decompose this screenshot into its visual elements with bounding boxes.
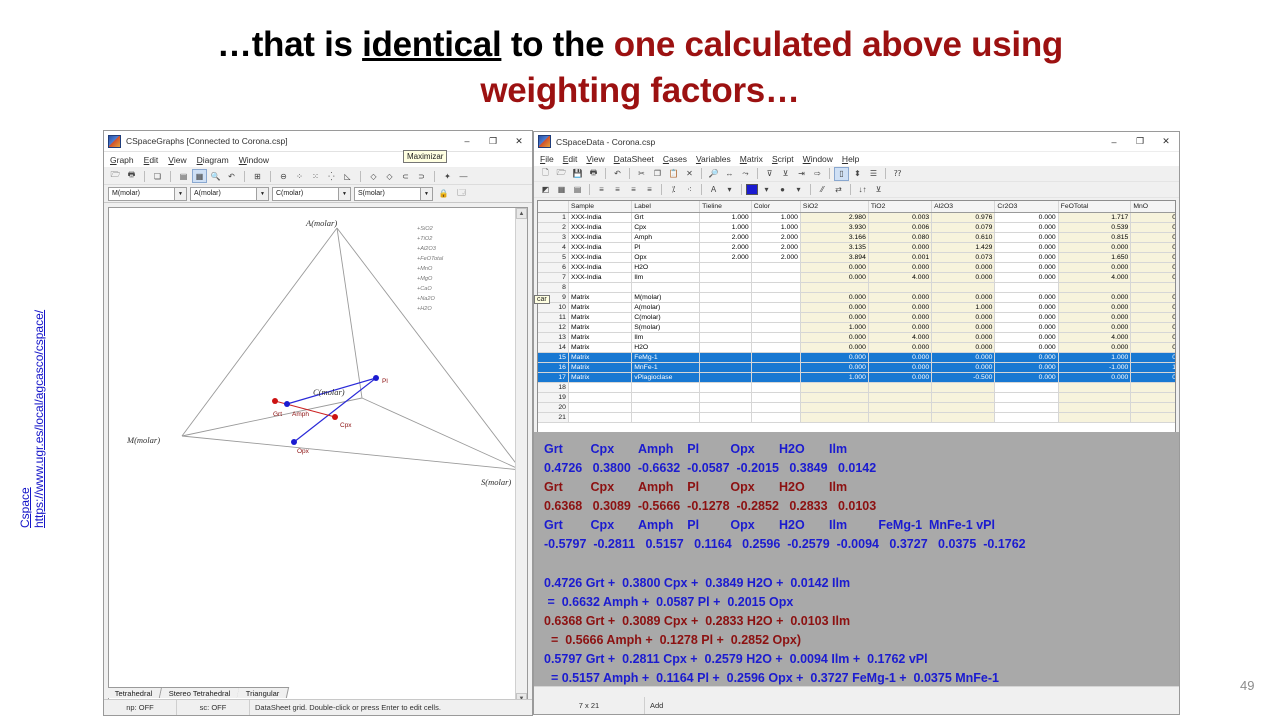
cell-tieline[interactable] <box>700 402 752 412</box>
cell-value[interactable]: 0.000 <box>1058 312 1131 322</box>
cell-value[interactable]: -1.000 <box>1058 362 1131 372</box>
chevron-down-icon[interactable]: ▾ <box>722 183 737 197</box>
cell-sample[interactable]: XXX-India <box>568 212 631 222</box>
filter-icon[interactable]: ⊽ <box>762 167 777 181</box>
cell-value[interactable]: 0.000 <box>932 272 995 282</box>
menu-matrix[interactable]: Matrix <box>740 154 763 164</box>
cell-value[interactable] <box>1131 412 1176 422</box>
cell-value[interactable] <box>800 382 868 392</box>
recalc-icon[interactable]: ⇄ <box>831 183 846 197</box>
cut-icon[interactable]: ✂ <box>634 167 649 181</box>
cell-value[interactable]: 0.000 <box>1131 242 1176 252</box>
col-sample[interactable]: Sample <box>568 201 631 212</box>
cell-value[interactable]: 0.000 <box>868 342 931 352</box>
cell-value[interactable] <box>932 402 995 412</box>
close-icon[interactable]: ✕ <box>506 132 532 151</box>
cell-value[interactable]: 0.000 <box>995 312 1058 322</box>
cell-tieline[interactable] <box>700 322 752 332</box>
cell-value[interactable]: 0.000 <box>1131 332 1176 342</box>
axis-combo-s[interactable]: S(molar) ▼ <box>354 187 433 201</box>
cell-value[interactable] <box>995 402 1058 412</box>
table-row[interactable]: 4XXX-IndiaPl2.0002.0003.1350.0001.4290.0… <box>538 242 1176 252</box>
cell-value[interactable]: 0.000 <box>995 292 1058 302</box>
row-header[interactable]: 6 <box>538 262 568 272</box>
cell-sample[interactable] <box>568 392 631 402</box>
cell-label[interactable]: vPlagioclase <box>632 372 700 382</box>
cell-tieline[interactable] <box>700 312 752 322</box>
menu-edit[interactable]: Edit <box>144 155 159 165</box>
cell-value[interactable]: 0.000 <box>868 322 931 332</box>
lock-icon[interactable]: 🔒 <box>436 187 451 201</box>
rotate-left-icon[interactable]: ◇ <box>366 169 381 183</box>
decimal-decrease-icon[interactable]: ⁖ <box>682 183 697 197</box>
cell-sample[interactable]: Matrix <box>568 342 631 352</box>
table-row[interactable]: 9MatrixM(molar)0.0000.0000.0000.0000.000… <box>538 292 1176 302</box>
row-header[interactable]: 12 <box>538 322 568 332</box>
menu-diagram[interactable]: Diagram <box>197 155 229 165</box>
cell-label[interactable]: Grt <box>632 212 700 222</box>
save-icon[interactable]: 💾 <box>570 167 585 181</box>
col-sio2[interactable]: SiO2 <box>800 201 868 212</box>
col-color[interactable]: Color <box>751 201 800 212</box>
cell-tieline[interactable] <box>700 292 752 302</box>
cell-value[interactable] <box>995 412 1058 422</box>
table-row[interactable]: 15MatrixFeMg-10.0000.0000.0000.0001.0000… <box>538 352 1176 362</box>
cell-value[interactable]: 0.000 <box>995 252 1058 262</box>
rotate-right-icon[interactable]: ◇ <box>382 169 397 183</box>
clear-format-icon[interactable]: ⁄⁄ <box>815 183 830 197</box>
minimize-icon[interactable]: – <box>454 132 480 151</box>
tilt-down-icon[interactable]: ⊃ <box>414 169 429 183</box>
menu-variables[interactable]: Variables <box>696 154 731 164</box>
zoom-out-icon[interactable]: — <box>456 169 471 183</box>
align-right-icon[interactable]: ≡ <box>626 183 641 197</box>
menu-file[interactable]: File <box>540 154 554 164</box>
cell-value[interactable]: 0.000 <box>1058 342 1131 352</box>
cell-value[interactable]: 0.000 <box>800 362 868 372</box>
cell-label[interactable]: MnFe-1 <box>632 362 700 372</box>
table-row[interactable]: 12MatrixS(molar)1.0000.0000.0000.0000.00… <box>538 322 1176 332</box>
cell-value[interactable]: 1.000 <box>1131 362 1176 372</box>
row-header[interactable]: 4 <box>538 242 568 252</box>
cell-tieline[interactable]: 2.000 <box>700 242 752 252</box>
cell-value[interactable] <box>800 282 868 292</box>
open-icon[interactable]: 🗁 <box>108 169 123 183</box>
align-justify-icon[interactable]: ≡ <box>642 183 657 197</box>
table-row[interactable]: 19 <box>538 392 1176 402</box>
delete-icon[interactable]: ✕ <box>682 167 697 181</box>
undo-icon[interactable]: ↶ <box>610 167 625 181</box>
col-tio2[interactable]: TiO2 <box>868 201 931 212</box>
cell-value[interactable]: 0.000 <box>868 312 931 322</box>
cell-label[interactable]: M(molar) <box>632 292 700 302</box>
cell-sample[interactable]: XXX-India <box>568 242 631 252</box>
cell-value[interactable]: 2.980 <box>800 212 868 222</box>
point-pl[interactable] <box>373 375 379 381</box>
cell-tieline[interactable] <box>700 352 752 362</box>
cell-color[interactable] <box>751 372 800 382</box>
cell-value[interactable] <box>1131 282 1176 292</box>
cell-sample[interactable] <box>568 412 631 422</box>
cell-sample[interactable]: XXX-India <box>568 232 631 242</box>
cell-value[interactable]: 0.000 <box>868 302 931 312</box>
cell-value[interactable] <box>995 392 1058 402</box>
cell-color[interactable] <box>751 292 800 302</box>
row-header[interactable]: 8 <box>538 282 568 292</box>
open-icon[interactable]: 🗁 <box>554 167 569 181</box>
cell-value[interactable]: 0.073 <box>932 252 995 262</box>
cell-tieline[interactable] <box>700 302 752 312</box>
cell-value[interactable]: 0.000 <box>1058 322 1131 332</box>
cell-value[interactable] <box>932 382 995 392</box>
cell-color[interactable]: 2.000 <box>751 232 800 242</box>
menu-edit[interactable]: Edit <box>563 154 578 164</box>
table-row[interactable]: 7XXX-IndiaIlm0.0004.0000.0000.0004.0000.… <box>538 272 1176 282</box>
cell-value[interactable]: 4.000 <box>1058 272 1131 282</box>
cell-value[interactable]: 4.000 <box>1058 332 1131 342</box>
cell-value[interactable]: 0.000 <box>800 342 868 352</box>
cspace-link-url[interactable]: https://www.ugr.es/local/agcasco/cspace/ <box>32 310 46 528</box>
cell-value[interactable]: 0.000 <box>800 272 868 282</box>
cell-color[interactable] <box>751 282 800 292</box>
copy-icon[interactable]: ❏ <box>150 169 165 183</box>
cell-label[interactable] <box>632 412 700 422</box>
table-row[interactable]: 13MatrixIlm0.0004.0000.0000.0004.0000.00… <box>538 332 1176 342</box>
paste-icon[interactable]: 📋 <box>666 167 681 181</box>
table-row[interactable]: 14MatrixH2O0.0000.0000.0000.0000.0000.00… <box>538 342 1176 352</box>
cell-value[interactable] <box>1058 402 1131 412</box>
cell-value[interactable]: 0.000 <box>868 242 931 252</box>
row-header[interactable]: 11 <box>538 312 568 322</box>
print-icon[interactable]: 🖶 <box>124 169 139 183</box>
cell-label[interactable]: Pl <box>632 242 700 252</box>
select-all-icon[interactable]: ◩ <box>538 183 553 197</box>
cell-value[interactable] <box>800 392 868 402</box>
cell-value[interactable] <box>932 412 995 422</box>
axis-combo-a[interactable]: A(molar) ▼ <box>190 187 269 201</box>
cell-color[interactable] <box>751 342 800 352</box>
cell-tieline[interactable] <box>700 412 752 422</box>
cell-value[interactable]: 0.000 <box>1131 262 1176 272</box>
cell-value[interactable]: 0.000 <box>932 352 995 362</box>
cell-value[interactable]: 0.000 <box>1058 372 1131 382</box>
cell-label[interactable] <box>632 392 700 402</box>
cell-value[interactable]: 0.000 <box>800 352 868 362</box>
triangle-icon[interactable]: ◺ <box>340 169 355 183</box>
maximize-icon[interactable]: ❐ <box>480 132 506 151</box>
cell-value[interactable]: 0.006 <box>868 222 931 232</box>
cell-value[interactable]: 0.079 <box>1131 212 1176 222</box>
menu-datasheet[interactable]: DataSheet <box>614 154 654 164</box>
cell-label[interactable]: FeMg-1 <box>632 352 700 362</box>
cell-sample[interactable]: XXX-India <box>568 222 631 232</box>
cell-value[interactable]: 0.000 <box>1058 262 1131 272</box>
cell-value[interactable]: 0.007 <box>1131 232 1176 242</box>
row-header[interactable]: 7 <box>538 272 568 282</box>
cell-label[interactable]: Ilm <box>632 272 700 282</box>
cell-value[interactable]: 0.000 <box>932 362 995 372</box>
col-mno[interactable]: MnO <box>1131 201 1176 212</box>
col-feototal[interactable]: FeOTotal <box>1058 201 1131 212</box>
cell-label[interactable]: H2O <box>632 262 700 272</box>
cell-value[interactable]: 0.000 <box>800 312 868 322</box>
cell-sample[interactable]: Matrix <box>568 302 631 312</box>
cell-value[interactable] <box>1131 402 1176 412</box>
points-multi-icon[interactable]: ⁛ <box>324 169 339 183</box>
tab-stereo-tetrahedral[interactable]: Stereo Tetrahedral <box>159 687 239 698</box>
cell-value[interactable] <box>1131 382 1176 392</box>
cell-value[interactable]: 0.000 <box>932 322 995 332</box>
row-header[interactable]: 1 <box>538 212 568 222</box>
menu-view[interactable]: View <box>586 154 604 164</box>
row-header[interactable]: 15 <box>538 352 568 362</box>
row-header[interactable]: 20 <box>538 402 568 412</box>
properties-icon[interactable]: 🗔 <box>454 187 469 201</box>
cell-value[interactable]: 0.000 <box>995 352 1058 362</box>
row-header[interactable]: 19 <box>538 392 568 402</box>
align-left-icon[interactable]: ≡ <box>594 183 609 197</box>
append-row-icon[interactable]: ⇨ <box>810 167 825 181</box>
cell-value[interactable]: 1.000 <box>1058 352 1131 362</box>
chevron-down-icon[interactable]: ▼ <box>338 188 350 200</box>
cell-value[interactable]: 0.000 <box>995 262 1058 272</box>
cell-label[interactable]: Opx <box>632 252 700 262</box>
table-row[interactable]: 3XXX-IndiaAmph2.0002.0003.1660.0800.6100… <box>538 232 1176 242</box>
table-row[interactable]: 8 <box>538 282 1176 292</box>
table-row[interactable]: 16MatrixMnFe-10.0000.0000.0000.000-1.000… <box>538 362 1176 372</box>
menu-help[interactable]: Help <box>842 154 859 164</box>
tab-tetrahedral[interactable]: Tetrahedral <box>106 687 162 698</box>
cell-label[interactable] <box>632 282 700 292</box>
menu-window[interactable]: Window <box>803 154 833 164</box>
cell-value[interactable]: 1.000 <box>800 372 868 382</box>
point-amph[interactable] <box>284 401 290 407</box>
cell-color[interactable] <box>751 382 800 392</box>
menu-script[interactable]: Script <box>772 154 794 164</box>
replace-icon[interactable]: ↔ <box>722 167 737 181</box>
filter-apply-icon[interactable]: ⊻ <box>778 167 793 181</box>
cell-value[interactable] <box>1058 392 1131 402</box>
row-header[interactable]: 18 <box>538 382 568 392</box>
cell-value[interactable]: 0.000 <box>995 242 1058 252</box>
table-row[interactable]: 10MatrixA(molar)0.0000.0001.0000.0000.00… <box>538 302 1176 312</box>
align-center-icon[interactable]: ≡ <box>610 183 625 197</box>
cell-value[interactable] <box>932 392 995 402</box>
cell-color[interactable] <box>751 262 800 272</box>
list-icon[interactable]: ☰ <box>866 167 881 181</box>
cell-sample[interactable]: Matrix <box>568 352 631 362</box>
cell-label[interactable]: Cpx <box>632 222 700 232</box>
cell-value[interactable]: 0.000 <box>995 362 1058 372</box>
cell-sample[interactable]: Matrix <box>568 362 631 372</box>
insert-row-icon[interactable]: ⇥ <box>794 167 809 181</box>
cell-tieline[interactable] <box>700 362 752 372</box>
cell-value[interactable]: 3.894 <box>800 252 868 262</box>
cell-tieline[interactable]: 2.000 <box>700 232 752 242</box>
chevron-down-icon[interactable]: ▾ <box>759 183 774 197</box>
cell-value[interactable]: 4.000 <box>868 332 931 342</box>
projection-icon[interactable]: ⊖ <box>276 169 291 183</box>
cell-value[interactable]: 0.000 <box>1131 372 1176 382</box>
cell-color[interactable]: 1.000 <box>751 212 800 222</box>
cell-tieline[interactable] <box>700 262 752 272</box>
cell-value[interactable] <box>868 392 931 402</box>
undo-icon[interactable]: ↶ <box>224 169 239 183</box>
cell-value[interactable] <box>1058 282 1131 292</box>
cell-sample[interactable] <box>568 282 631 292</box>
cell-value[interactable]: 0.000 <box>800 332 868 342</box>
cell-tieline[interactable] <box>700 332 752 342</box>
cell-value[interactable]: 4.000 <box>868 272 931 282</box>
cell-value[interactable] <box>868 402 931 412</box>
axis-combo-m[interactable]: M(molar) ▼ <box>108 187 187 201</box>
table-row[interactable]: 20 <box>538 402 1176 412</box>
row-header[interactable]: 5 <box>538 252 568 262</box>
autofilter-icon[interactable]: ⊻ <box>871 183 886 197</box>
cell-value[interactable] <box>868 412 931 422</box>
cell-value[interactable]: 1.650 <box>1058 252 1131 262</box>
cell-value[interactable]: 0.539 <box>1058 222 1131 232</box>
cell-value[interactable]: 0.079 <box>932 222 995 232</box>
cell-value[interactable]: 0.000 <box>995 222 1058 232</box>
cell-color[interactable]: 1.000 <box>751 222 800 232</box>
cell-value[interactable]: -0.500 <box>932 372 995 382</box>
tilt-up-icon[interactable]: ⊂ <box>398 169 413 183</box>
cell-sample[interactable] <box>568 402 631 412</box>
table-row[interactable]: 5XXX-IndiaOpx2.0002.0003.8940.0010.0730.… <box>538 252 1176 262</box>
cell-value[interactable]: 1.000 <box>932 302 995 312</box>
cell-label[interactable]: Ilm <box>632 332 700 342</box>
page-icon[interactable]: ▤ <box>176 169 191 183</box>
marker-icon[interactable]: ● <box>775 183 790 197</box>
menu-window[interactable]: Window <box>239 155 269 165</box>
table-row[interactable]: 11MatrixC(molar)0.0000.0000.0000.0000.00… <box>538 312 1176 322</box>
cell-value[interactable]: 0.001 <box>868 252 931 262</box>
scroll-up-icon[interactable]: ▲ <box>516 208 527 219</box>
col-al2o3[interactable]: Al2O3 <box>932 201 995 212</box>
cell-color[interactable]: 2.000 <box>751 242 800 252</box>
row-header[interactable]: 16 <box>538 362 568 372</box>
cell-sample[interactable]: XXX-India <box>568 272 631 282</box>
cell-color[interactable] <box>751 352 800 362</box>
cell-tieline[interactable]: 1.000 <box>700 212 752 222</box>
cell-value[interactable]: 3.166 <box>800 232 868 242</box>
script-icon[interactable]: ⁇ <box>890 167 905 181</box>
cell-value[interactable]: 0.000 <box>800 302 868 312</box>
cell-value[interactable]: 0.000 <box>1131 322 1176 332</box>
cell-value[interactable]: 0.000 <box>1058 302 1131 312</box>
cell-tieline[interactable]: 2.000 <box>700 252 752 262</box>
menu-graph[interactable]: Graph <box>110 155 134 165</box>
cell-label[interactable] <box>632 382 700 392</box>
cell-value[interactable]: 0.000 <box>800 292 868 302</box>
cell-value[interactable]: 0.000 <box>1131 302 1176 312</box>
cell-value[interactable]: 0.000 <box>932 292 995 302</box>
cell-value[interactable]: 0.000 <box>800 262 868 272</box>
cell-sample[interactable]: Matrix <box>568 312 631 322</box>
row-header[interactable]: 14 <box>538 342 568 352</box>
cell-label[interactable]: C(molar) <box>632 312 700 322</box>
cell-value[interactable]: 0.000 <box>1131 292 1176 302</box>
cell-value[interactable]: 0.000 <box>868 372 931 382</box>
cell-value[interactable] <box>995 382 1058 392</box>
cspace-link-label[interactable]: Cspace <box>18 487 32 528</box>
diagram-canvas[interactable]: Pl Amph Grt Cpx Opx A(molar) C(molar) M(… <box>108 207 528 705</box>
point-grt[interactable] <box>272 398 278 404</box>
cell-value[interactable]: 3.135 <box>800 242 868 252</box>
cell-label[interactable]: H2O <box>632 342 700 352</box>
cell-value[interactable]: 0.000 <box>995 372 1058 382</box>
cell-value[interactable]: 0.000 <box>995 302 1058 312</box>
datasheet-grid[interactable]: Sample Label Tieline Color SiO2 TiO2 Al2… <box>537 200 1176 450</box>
cell-value[interactable] <box>932 282 995 292</box>
cell-color[interactable] <box>751 412 800 422</box>
cell-tieline[interactable] <box>700 282 752 292</box>
table-row[interactable]: 18 <box>538 382 1176 392</box>
sort-icon[interactable]: ↓↑ <box>855 183 870 197</box>
cell-value[interactable] <box>800 412 868 422</box>
cell-color[interactable] <box>751 332 800 342</box>
grid-colors-icon[interactable]: ▦ <box>192 169 207 183</box>
cell-sample[interactable]: Matrix <box>568 292 631 302</box>
cell-value[interactable]: 0.014 <box>1131 222 1176 232</box>
cell-color[interactable] <box>751 322 800 332</box>
table-row[interactable]: 2XXX-IndiaCpx1.0001.0003.9300.0060.0790.… <box>538 222 1176 232</box>
row-header[interactable]: 17 <box>538 372 568 382</box>
cell-value[interactable]: 0.000 <box>995 212 1058 222</box>
find-icon[interactable]: 🔎 <box>706 167 721 181</box>
cell-value[interactable]: 0.000 <box>932 332 995 342</box>
cell-sample[interactable]: XXX-India <box>568 262 631 272</box>
cell-tieline[interactable] <box>700 272 752 282</box>
cell-value[interactable]: 0.000 <box>1131 352 1176 362</box>
cell-value[interactable]: 0.610 <box>932 232 995 242</box>
cell-tieline[interactable] <box>700 382 752 392</box>
table-icon[interactable]: ▤ <box>570 183 585 197</box>
grid-icon[interactable]: ▦ <box>554 183 569 197</box>
fill-color-swatch[interactable] <box>746 184 758 195</box>
col-label[interactable]: Label <box>632 201 700 212</box>
horizontal-scrollbar[interactable] <box>534 686 1179 697</box>
cell-label[interactable] <box>632 402 700 412</box>
cell-value[interactable]: 0.000 <box>868 352 931 362</box>
cell-value[interactable]: 0.000 <box>995 332 1058 342</box>
tab-triangular[interactable]: Triangular <box>237 687 289 698</box>
table-row[interactable]: 1XXX-IndiaGrt1.0001.0002.9800.0030.9760.… <box>538 212 1176 222</box>
cell-value[interactable] <box>1131 392 1176 402</box>
menu-view[interactable]: View <box>168 155 186 165</box>
chevron-down-icon[interactable]: ▾ <box>791 183 806 197</box>
cell-color[interactable] <box>751 312 800 322</box>
cell-value[interactable]: 0.000 <box>868 262 931 272</box>
cell-value[interactable]: 1.717 <box>1058 212 1131 222</box>
cell-value[interactable] <box>868 382 931 392</box>
table-row[interactable]: 21 <box>538 412 1176 422</box>
zoom-icon[interactable]: 🔍 <box>208 169 223 183</box>
cell-sample[interactable]: Matrix <box>568 372 631 382</box>
cell-value[interactable]: 1.429 <box>932 242 995 252</box>
cell-color[interactable] <box>751 362 800 372</box>
cell-value[interactable]: 0.000 <box>1058 242 1131 252</box>
new-icon[interactable]: 🗋 <box>538 167 553 181</box>
menu-cases[interactable]: Cases <box>663 154 687 164</box>
points-green-icon[interactable]: ⁙ <box>308 169 323 183</box>
col-tieline[interactable]: Tieline <box>700 201 752 212</box>
cell-value[interactable]: 0.000 <box>1058 292 1131 302</box>
table-row[interactable]: 6XXX-IndiaH2O0.0000.0000.0000.0000.0000.… <box>538 262 1176 272</box>
col-cr2o3[interactable]: Cr2O3 <box>995 201 1058 212</box>
cell-sample[interactable]: Matrix <box>568 322 631 332</box>
